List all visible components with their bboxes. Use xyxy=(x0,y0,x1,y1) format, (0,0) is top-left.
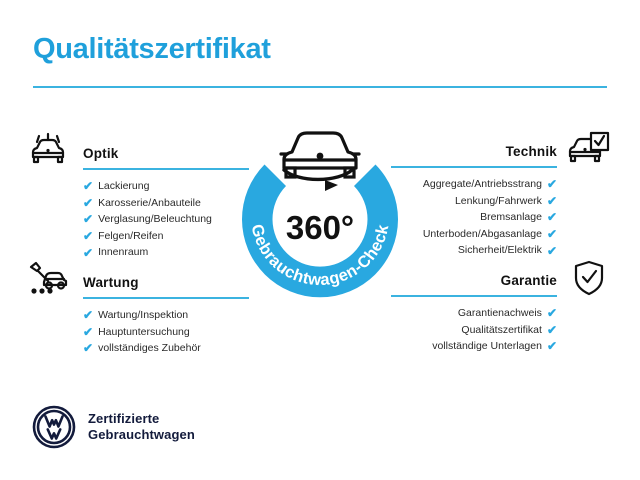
list-item-label: Lenkung/Fahrwerk xyxy=(455,193,542,210)
certificate-page: Qualitätszertifikat xyxy=(0,0,640,480)
check-icon: ✔ xyxy=(547,195,557,207)
list-item: ✔Verglasung/Beleuchtung xyxy=(28,211,233,228)
check-icon: ✔ xyxy=(547,245,557,257)
section-title-technik: Technik xyxy=(506,144,557,159)
check-icon: ✔ xyxy=(83,180,93,192)
car-rotate-icon xyxy=(281,133,359,191)
check-icon: ✔ xyxy=(83,342,93,354)
section-title-wartung: Wartung xyxy=(83,275,139,290)
check-icon: ✔ xyxy=(547,178,557,190)
list-item: ✔Felgen/Reifen xyxy=(28,228,233,245)
list-item: Unterboden/Abgasanlage✔ xyxy=(407,226,612,243)
shield-check-icon xyxy=(566,259,612,299)
checklist-technik: Aggregate/Antriebsstrang✔ Lenkung/Fahrwe… xyxy=(407,176,612,259)
title-divider xyxy=(33,86,607,88)
section-garantie: Garantie Garantienachweis✔ Qualitätszert… xyxy=(407,259,612,355)
list-item: ✔Lackierung xyxy=(28,178,233,195)
list-item: ✔Wartung/Inspektion xyxy=(28,307,233,324)
list-item: Qualitätszertifikat✔ xyxy=(407,322,612,339)
footer-line-2: Gebrauchtwagen xyxy=(88,427,195,443)
section-header-optik: Optik xyxy=(28,132,233,170)
car-checkbox-icon xyxy=(566,130,612,170)
list-item: ✔Karosserie/Anbauteile xyxy=(28,195,233,212)
list-item: Garantienachweis✔ xyxy=(407,305,612,322)
list-item-label: Aggregate/Antriebsstrang xyxy=(423,176,542,193)
section-header-wartung: Wartung xyxy=(28,261,233,299)
check-icon: ✔ xyxy=(547,324,557,336)
check-icon: ✔ xyxy=(83,213,93,225)
list-item-label: Bremsanlage xyxy=(480,209,542,226)
list-item-label: Karosserie/Anbauteile xyxy=(98,195,201,212)
check-icon: ✔ xyxy=(547,228,557,240)
section-title-garantie: Garantie xyxy=(501,273,557,288)
check-icon: ✔ xyxy=(83,197,93,209)
checklist-garantie: Garantienachweis✔ Qualitätszertifikat✔ v… xyxy=(407,305,612,355)
list-item: vollständige Unterlagen✔ xyxy=(407,338,612,355)
list-item: ✔Hauptuntersuchung xyxy=(28,324,233,341)
list-item: Lenkung/Fahrwerk✔ xyxy=(407,193,612,210)
footer-brand: Zertifizierte Gebrauchtwagen xyxy=(32,405,195,449)
list-item-label: Verglasung/Beleuchtung xyxy=(98,211,212,228)
check-icon: ✔ xyxy=(547,307,557,319)
badge-center-label: 360° xyxy=(286,209,354,246)
section-optik: Optik ✔Lackierung ✔Karosserie/Anbauteile… xyxy=(28,132,233,261)
checklist-wartung: ✔Wartung/Inspektion ✔Hauptuntersuchung ✔… xyxy=(28,307,233,357)
check-icon: ✔ xyxy=(547,340,557,352)
list-item: Sicherheit/Elektrik✔ xyxy=(407,242,612,259)
volkswagen-logo xyxy=(32,405,76,449)
list-item: Bremsanlage✔ xyxy=(407,209,612,226)
list-item-label: Garantienachweis xyxy=(458,305,542,322)
check-icon: ✔ xyxy=(83,309,93,321)
page-title: Qualitätszertifikat xyxy=(33,33,271,66)
footer-line-1: Zertifizierte xyxy=(88,411,195,427)
check-icon: ✔ xyxy=(83,230,93,242)
section-technik: Technik Aggregate/Antriebsstrang✔ Lenkun… xyxy=(407,130,612,259)
car-service-tool-icon xyxy=(28,261,74,301)
check-icon: ✔ xyxy=(83,326,93,338)
badge-360-gebrauchtwagen-check: 360° Gebrauchtwagen-Check xyxy=(224,112,416,312)
list-item-label: Hauptuntersuchung xyxy=(98,324,190,341)
section-wartung: Wartung ✔Wartung/Inspektion ✔Hauptunters… xyxy=(28,261,233,357)
section-title-optik: Optik xyxy=(83,146,119,161)
list-item-label: Unterboden/Abgasanlage xyxy=(423,226,542,243)
checklist-optik: ✔Lackierung ✔Karosserie/Anbauteile ✔Verg… xyxy=(28,178,233,261)
list-item-label: vollständiges Zubehör xyxy=(98,340,201,357)
check-icon: ✔ xyxy=(547,211,557,223)
list-item-label: Wartung/Inspektion xyxy=(98,307,188,324)
list-item-label: Qualitätszertifikat xyxy=(461,322,542,339)
list-item-label: Innenraum xyxy=(98,244,148,261)
list-item-label: Lackierung xyxy=(98,178,149,195)
check-icon: ✔ xyxy=(83,247,93,259)
car-shine-icon xyxy=(28,132,74,172)
list-item-label: Sicherheit/Elektrik xyxy=(458,242,542,259)
list-item-label: vollständige Unterlagen xyxy=(432,338,542,355)
section-header-technik: Technik xyxy=(407,130,612,168)
footer-brand-text: Zertifizierte Gebrauchtwagen xyxy=(88,411,195,443)
section-header-garantie: Garantie xyxy=(407,259,612,297)
list-item-label: Felgen/Reifen xyxy=(98,228,163,245)
list-item: ✔Innenraum xyxy=(28,244,233,261)
list-item: ✔vollständiges Zubehör xyxy=(28,340,233,357)
list-item: Aggregate/Antriebsstrang✔ xyxy=(407,176,612,193)
